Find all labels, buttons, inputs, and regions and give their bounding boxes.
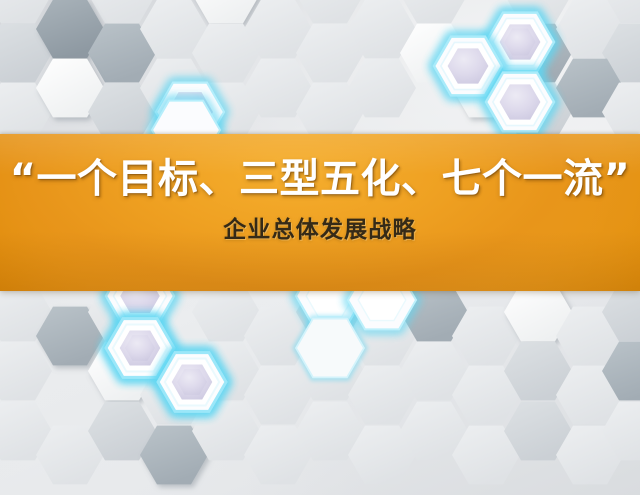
presentation-slide: “一个目标、三型五化、七个一流” 企业总体发展战略 — [0, 0, 640, 495]
title-banner: “一个目标、三型五化、七个一流” 企业总体发展战略 — [0, 134, 640, 291]
slide-title: “一个目标、三型五化、七个一流” — [10, 158, 631, 200]
banner-text-block: “一个目标、三型五化、七个一流” 企业总体发展战略 — [0, 134, 640, 291]
slide-subtitle: 企业总体发展战略 — [223, 218, 417, 243]
